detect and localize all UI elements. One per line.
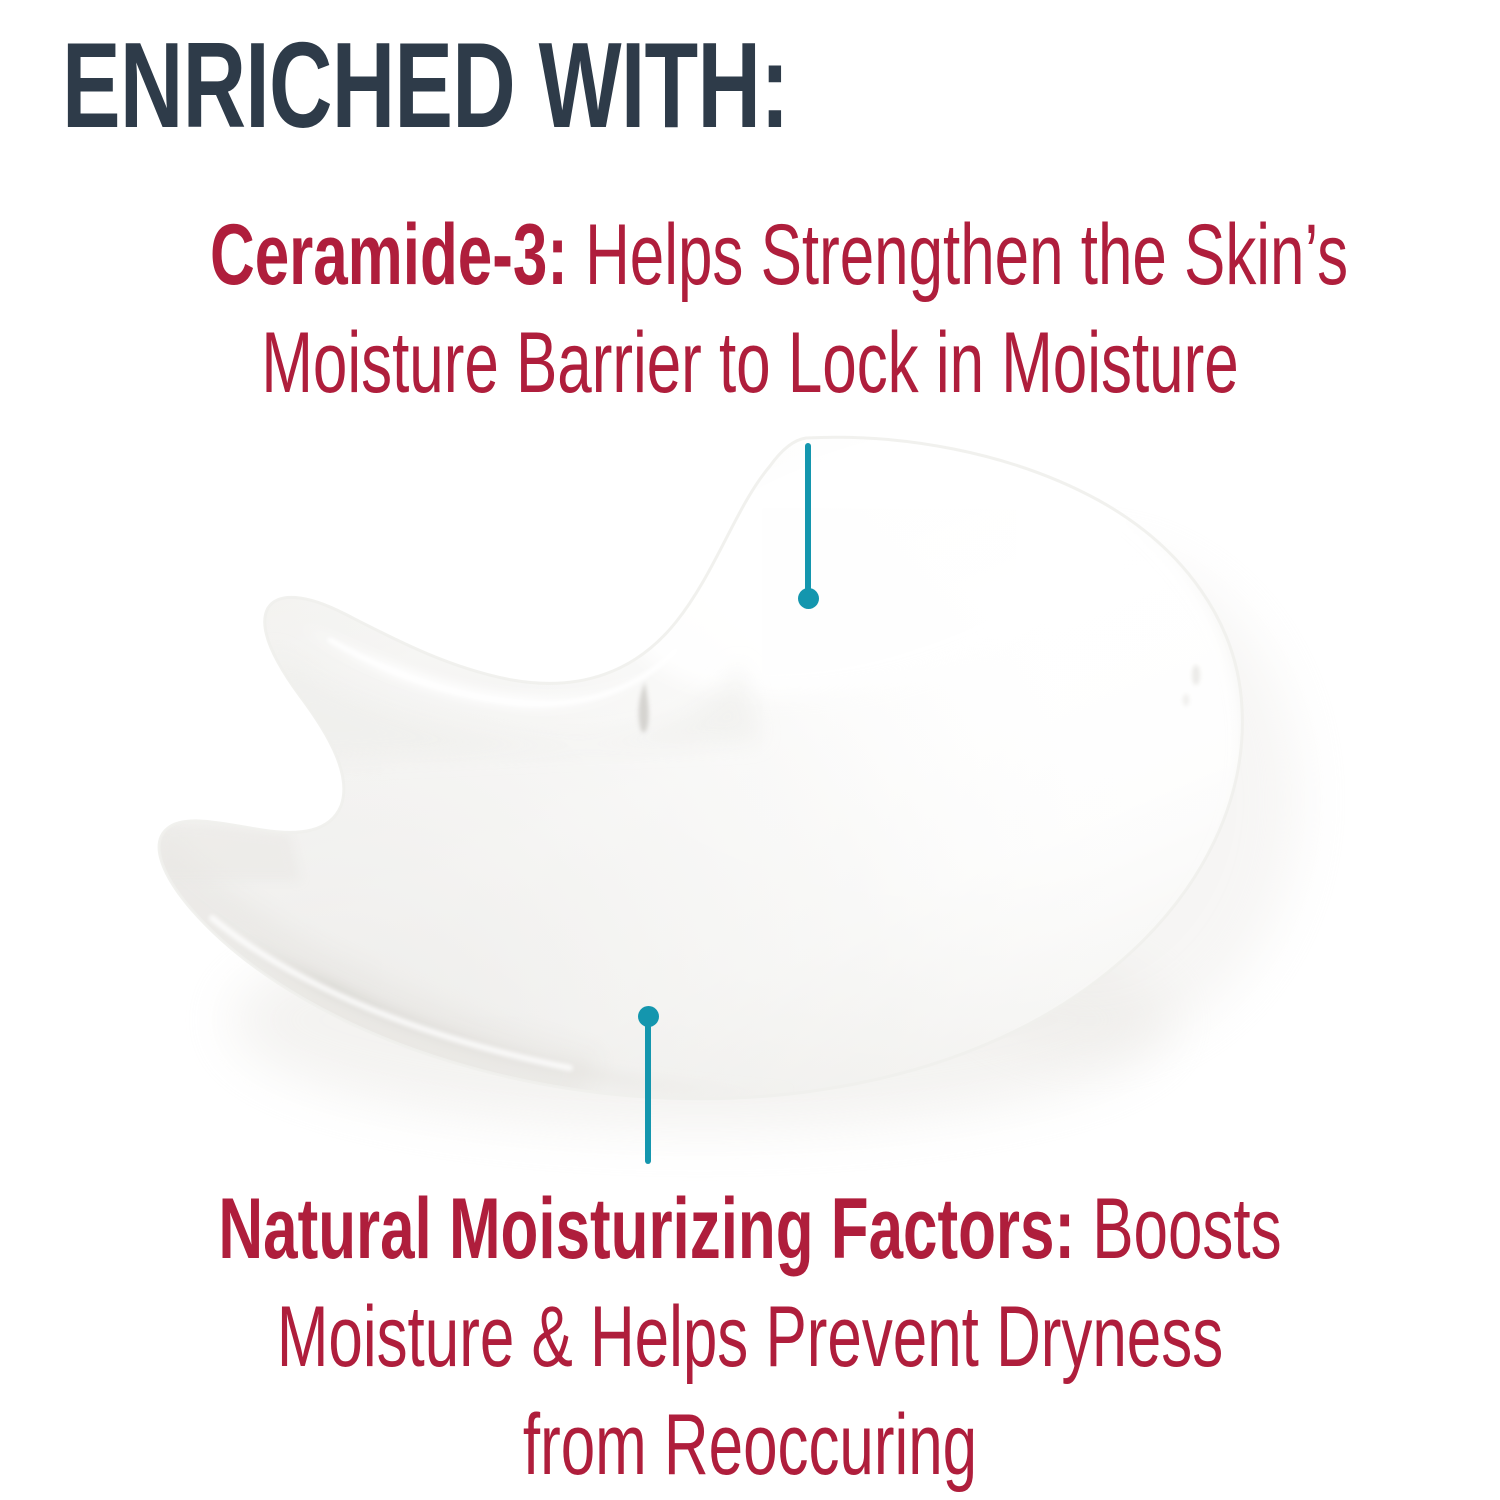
- claim-ceramide-3: Ceramide-3: Helps Strengthen the Skin’s …: [0, 212, 1500, 428]
- claim-line: Natural Moisturizing Factors: Boosts: [210, 1186, 1290, 1272]
- claim-line: Moisture Barrier to Lock in Moisture: [210, 320, 1290, 406]
- ingredient-name: Ceramide-3:: [210, 207, 568, 303]
- callout-stem: [805, 443, 811, 601]
- ingredient-name: Natural Moisturizing Factors:: [218, 1181, 1075, 1277]
- callout-dot: [798, 588, 819, 609]
- product-infographic: ENRICHED WITH: Ceramide-3: Helps Strengt…: [0, 0, 1500, 1500]
- claim-line: Ceramide-3: Helps Strengthen the Skin’s: [210, 212, 1290, 298]
- claim-line: Moisture & Helps Prevent Dryness: [210, 1294, 1290, 1380]
- ingredient-benefit: Boosts: [1075, 1181, 1282, 1277]
- callout-stem: [645, 1014, 651, 1164]
- ingredient-benefit: Helps Strengthen the Skin’s: [568, 207, 1348, 303]
- page-title: ENRICHED WITH:: [62, 24, 926, 146]
- swatch-shadow: [230, 550, 1300, 1130]
- callout-dot: [638, 1006, 659, 1027]
- claim-line: from Reoccuring: [210, 1402, 1290, 1488]
- claim-natural-moisturizing-factors: Natural Moisturizing Factors: Boosts Moi…: [0, 1186, 1500, 1500]
- cream-body: [159, 437, 1242, 1099]
